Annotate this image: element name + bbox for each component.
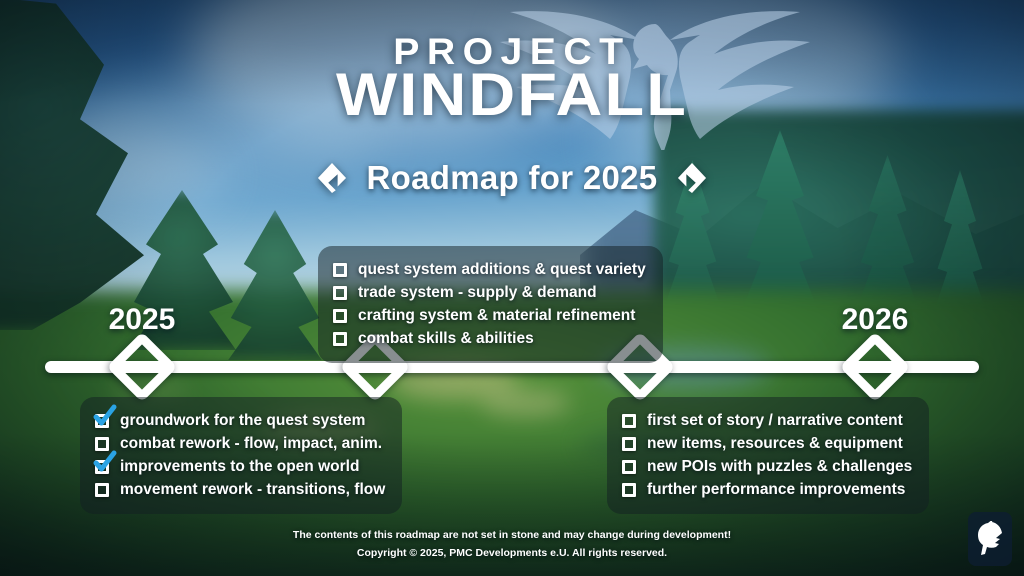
checklist-item-label: new items, resources & equipment	[647, 435, 903, 453]
checklist-item-label: combat rework - flow, impact, anim.	[120, 435, 382, 453]
checkbox-unchecked-icon[interactable]	[622, 483, 636, 497]
checklist-item-label: trade system - supply & demand	[358, 284, 597, 302]
roadmap-panel-late-2025: first set of story / narrative contentne…	[607, 397, 929, 514]
checkbox-checked-icon[interactable]	[95, 414, 109, 428]
checklist-item[interactable]: combat rework - flow, impact, anim.	[95, 433, 385, 454]
checklist-item-label: groundwork for the quest system	[120, 412, 365, 430]
roadmap-panel-mid-2025: quest system additions & quest varietytr…	[318, 246, 663, 363]
checkbox-checked-icon[interactable]	[95, 460, 109, 474]
checklist-item-label: further performance improvements	[647, 481, 905, 499]
checkbox-unchecked-icon[interactable]	[333, 332, 347, 346]
checklist-item-label: crafting system & material refinement	[358, 307, 635, 325]
checklist-item[interactable]: trade system - supply & demand	[333, 282, 646, 303]
checklist-item[interactable]: new POIs with puzzles & challenges	[622, 456, 912, 477]
logo: PROJECT WINDFALL	[0, 14, 1024, 144]
checkbox-unchecked-icon[interactable]	[622, 437, 636, 451]
checkbox-unchecked-icon[interactable]	[622, 414, 636, 428]
checklist-item-label: improvements to the open world	[120, 458, 359, 476]
checklist-item[interactable]: first set of story / narrative content	[622, 410, 912, 431]
checklist-item-label: quest system additions & quest variety	[358, 261, 646, 279]
checklist-item[interactable]: movement rework - transitions, flow	[95, 479, 385, 500]
checklist-item[interactable]: groundwork for the quest system	[95, 410, 385, 431]
checklist-item[interactable]: further performance improvements	[622, 479, 912, 500]
checklist-item[interactable]: crafting system & material refinement	[333, 305, 646, 326]
checklist-item[interactable]: quest system additions & quest variety	[333, 259, 646, 280]
roadmap-panel-current: groundwork for the quest systemcombat re…	[80, 397, 402, 514]
checklist-item-label: movement rework - transitions, flow	[120, 481, 385, 499]
checklist-item[interactable]: new items, resources & equipment	[622, 433, 912, 454]
checkbox-unchecked-icon[interactable]	[95, 483, 109, 497]
checkbox-unchecked-icon[interactable]	[95, 437, 109, 451]
checklist-item[interactable]: improvements to the open world	[95, 456, 385, 477]
footer: The contents of this roadmap are not set…	[0, 527, 1024, 562]
checklist-item-label: combat skills & abilities	[358, 330, 534, 348]
diamond-accent-left-icon	[317, 162, 347, 194]
logo-line-windfall: WINDFALL	[336, 66, 688, 124]
footer-copyright: Copyright © 2025, PMC Developments e.U. …	[0, 545, 1024, 562]
checkbox-unchecked-icon[interactable]	[333, 286, 347, 300]
diamond-accent-right-icon	[677, 162, 707, 194]
checklist-item-label: new POIs with puzzles & challenges	[647, 458, 912, 476]
checkbox-unchecked-icon[interactable]	[333, 309, 347, 323]
roadmap-poster: PROJECT WINDFALL Roadmap for 2025 2025 2…	[0, 0, 1024, 576]
roadmap-title-row: Roadmap for 2025	[0, 155, 1024, 201]
checklist-item[interactable]: combat skills & abilities	[333, 328, 646, 349]
checkbox-unchecked-icon[interactable]	[622, 460, 636, 474]
eagle-head-watermark-icon	[975, 521, 1005, 557]
footer-disclaimer: The contents of this roadmap are not set…	[0, 527, 1024, 544]
checklist-item-label: first set of story / narrative content	[647, 412, 903, 430]
page-title: Roadmap for 2025	[367, 159, 658, 197]
checkbox-unchecked-icon[interactable]	[333, 263, 347, 277]
watermark	[968, 512, 1012, 566]
